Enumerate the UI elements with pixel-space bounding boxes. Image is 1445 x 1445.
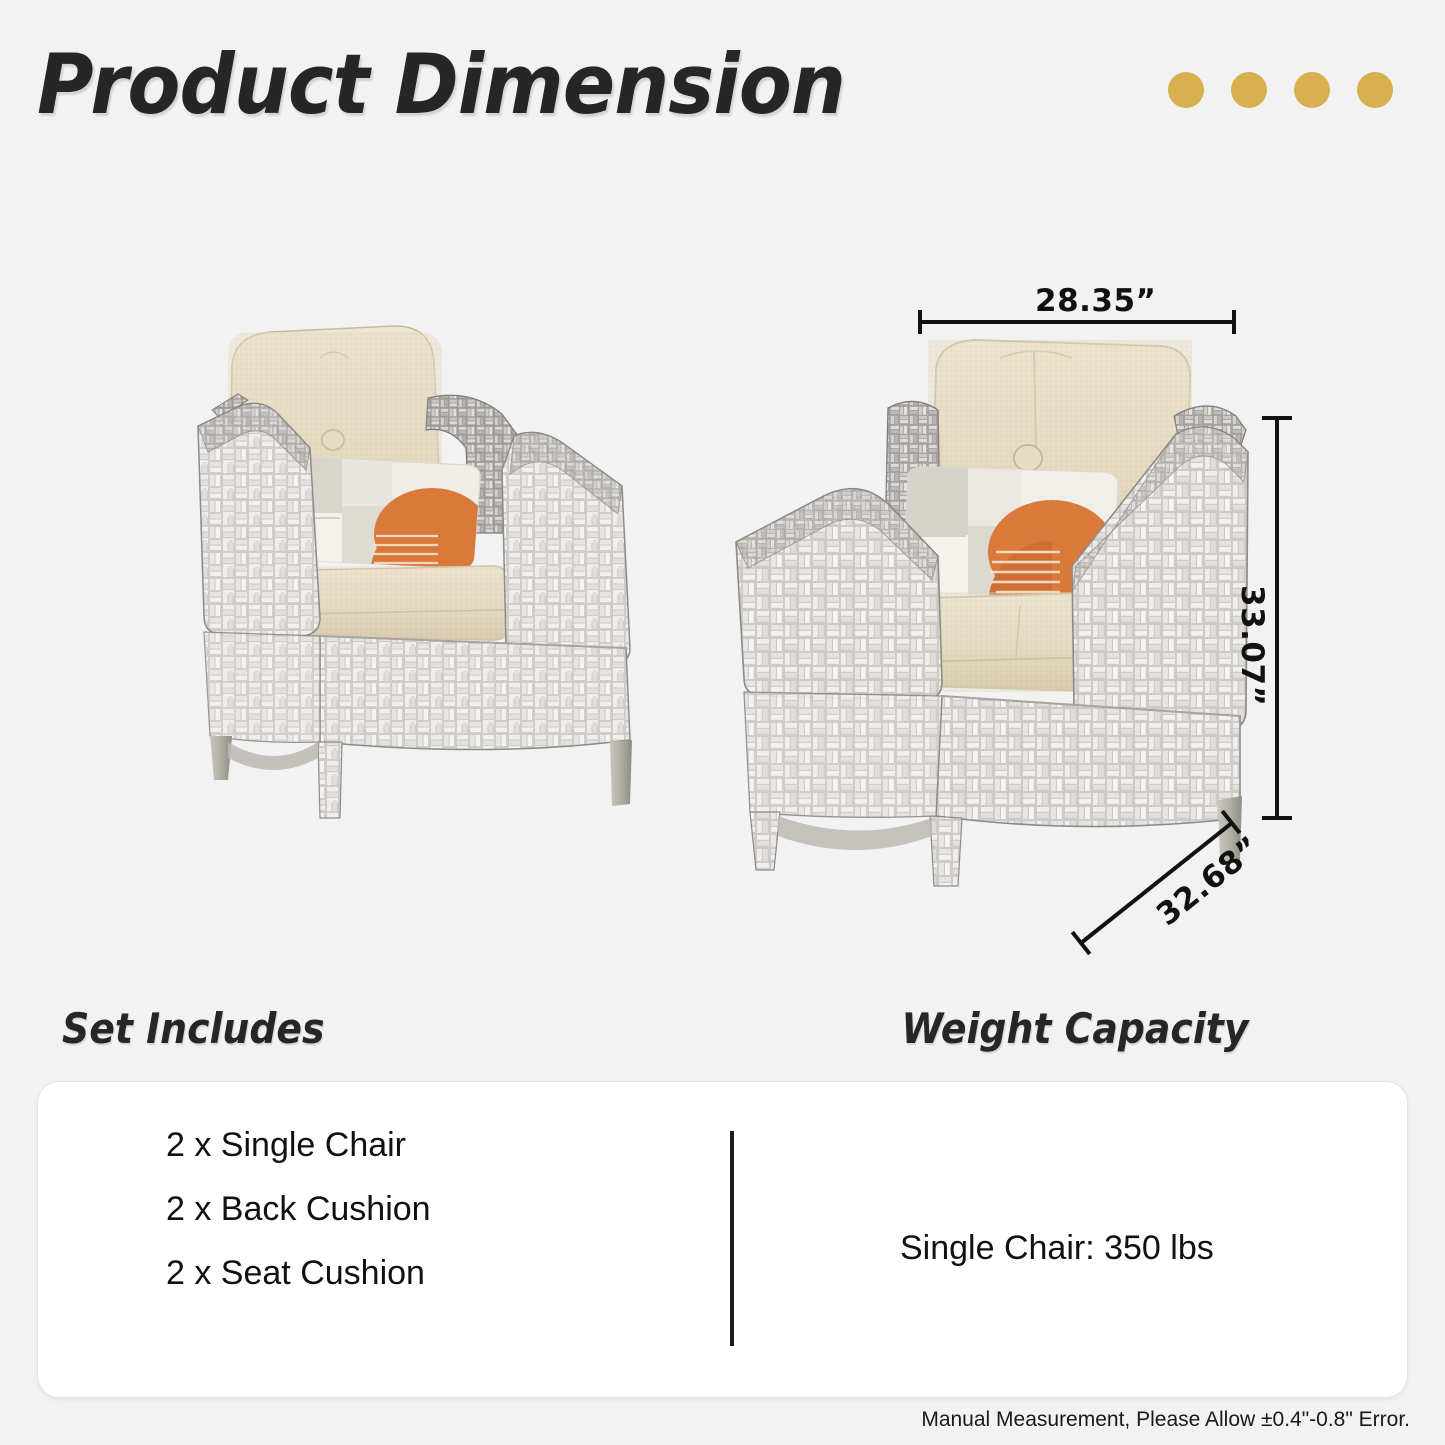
- dot-icon: [1168, 72, 1204, 108]
- info-card: 2 x Single Chair 2 x Back Cushion 2 x Se…: [37, 1081, 1408, 1398]
- width-dimension-label: 28.35”: [1035, 283, 1156, 319]
- height-dimension-line: [1275, 416, 1279, 820]
- set-includes-list: 2 x Single Chair 2 x Back Cushion 2 x Se…: [166, 1128, 431, 1320]
- list-item: 2 x Back Cushion: [166, 1192, 431, 1226]
- card-divider: [730, 1131, 734, 1346]
- dot-icon: [1357, 72, 1393, 108]
- measurement-disclaimer: Manual Measurement, Please Allow ±0.4"-0…: [921, 1408, 1410, 1432]
- chair-illustration-right: [700, 330, 1260, 890]
- width-dimension-cap-right: [1232, 310, 1236, 334]
- height-dimension-cap-bottom: [1262, 816, 1292, 820]
- width-dimension-line: [918, 320, 1236, 324]
- set-includes-heading: Set Includes: [62, 1004, 325, 1053]
- height-dimension-label: 33.07”: [1234, 585, 1270, 706]
- list-item: 2 x Single Chair: [166, 1128, 431, 1162]
- chair-svg: [700, 330, 1260, 890]
- page-title: Product Dimension: [37, 36, 845, 133]
- weight-capacity-value: Single Chair: 350 lbs: [900, 1229, 1214, 1268]
- width-dimension-cap-left: [918, 310, 922, 334]
- product-dimension-infographic: Product Dimension: [0, 0, 1445, 1445]
- weight-capacity-heading: Weight Capacity: [902, 1004, 1249, 1053]
- chair-illustration-left: [170, 318, 670, 838]
- height-dimension-cap-top: [1262, 416, 1292, 420]
- list-item: 2 x Seat Cushion: [166, 1256, 431, 1290]
- decorative-dots: [1168, 72, 1393, 108]
- dot-icon: [1231, 72, 1267, 108]
- chair-svg: [170, 318, 670, 838]
- dot-icon: [1294, 72, 1330, 108]
